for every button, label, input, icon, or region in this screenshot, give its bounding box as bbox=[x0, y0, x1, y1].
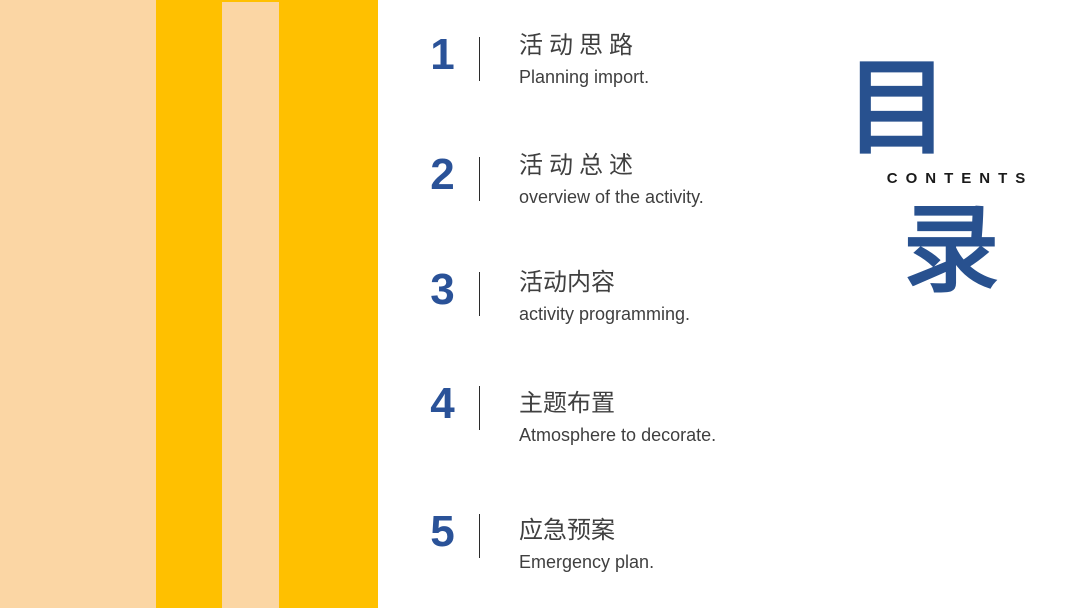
toc-item-divider bbox=[479, 272, 480, 316]
toc-item-number: 4 bbox=[420, 382, 464, 426]
toc-item-text: 活动总述 overview of the activity. bbox=[519, 148, 819, 210]
stripe-yellow-first bbox=[156, 0, 222, 608]
toc-item-subtitle-en: Planning import. bbox=[519, 64, 819, 90]
toc-item-subtitle-en: overview of the activity. bbox=[519, 184, 819, 210]
toc-item-title-cn: 活动总述 bbox=[519, 148, 819, 182]
toc-item-divider bbox=[479, 37, 480, 81]
toc-item-number: 5 bbox=[420, 510, 464, 554]
stripe-peach-outer bbox=[0, 0, 156, 608]
toc-item-divider bbox=[479, 157, 480, 201]
contents-heading-mark: 目 CONTENTS 录 bbox=[845, 56, 1045, 296]
toc-item-number: 1 bbox=[420, 33, 464, 77]
contents-glyph-lu: 录 bbox=[903, 202, 1003, 298]
toc-item-subtitle-en: Atmosphere to decorate. bbox=[519, 422, 819, 448]
toc-item-divider bbox=[479, 514, 480, 558]
toc-item-text: 主题布置 Atmosphere to decorate. bbox=[519, 386, 819, 448]
toc-item-subtitle-en: Emergency plan. bbox=[519, 549, 819, 575]
toc-item-title-cn: 活动思路 bbox=[519, 28, 819, 62]
toc-item-divider bbox=[479, 386, 480, 430]
stripe-yellow-second bbox=[279, 0, 378, 608]
toc-item-title-cn: 主题布置 bbox=[519, 386, 819, 420]
toc-item-text: 应急预案 Emergency plan. bbox=[519, 513, 819, 575]
toc-item-title-cn: 活动内容 bbox=[519, 265, 819, 299]
contents-glyph-mu: 目 bbox=[845, 56, 935, 160]
toc-item-text: 活动思路 Planning import. bbox=[519, 28, 819, 90]
left-stripe-band bbox=[0, 0, 378, 608]
toc-item-text: 活动内容 activity programming. bbox=[519, 265, 819, 327]
toc-item-number: 2 bbox=[420, 153, 464, 197]
stripe-peach-inner bbox=[222, 2, 279, 608]
toc-item-number: 3 bbox=[420, 268, 464, 312]
toc-item-subtitle-en: activity programming. bbox=[519, 301, 819, 327]
table-of-contents: 1 活动思路 Planning import. 2 活动总述 overview … bbox=[420, 0, 820, 608]
contents-label: CONTENTS bbox=[865, 170, 1047, 188]
slide-canvas: 1 活动思路 Planning import. 2 活动总述 overview … bbox=[0, 0, 1080, 608]
toc-item-title-cn: 应急预案 bbox=[519, 513, 819, 547]
